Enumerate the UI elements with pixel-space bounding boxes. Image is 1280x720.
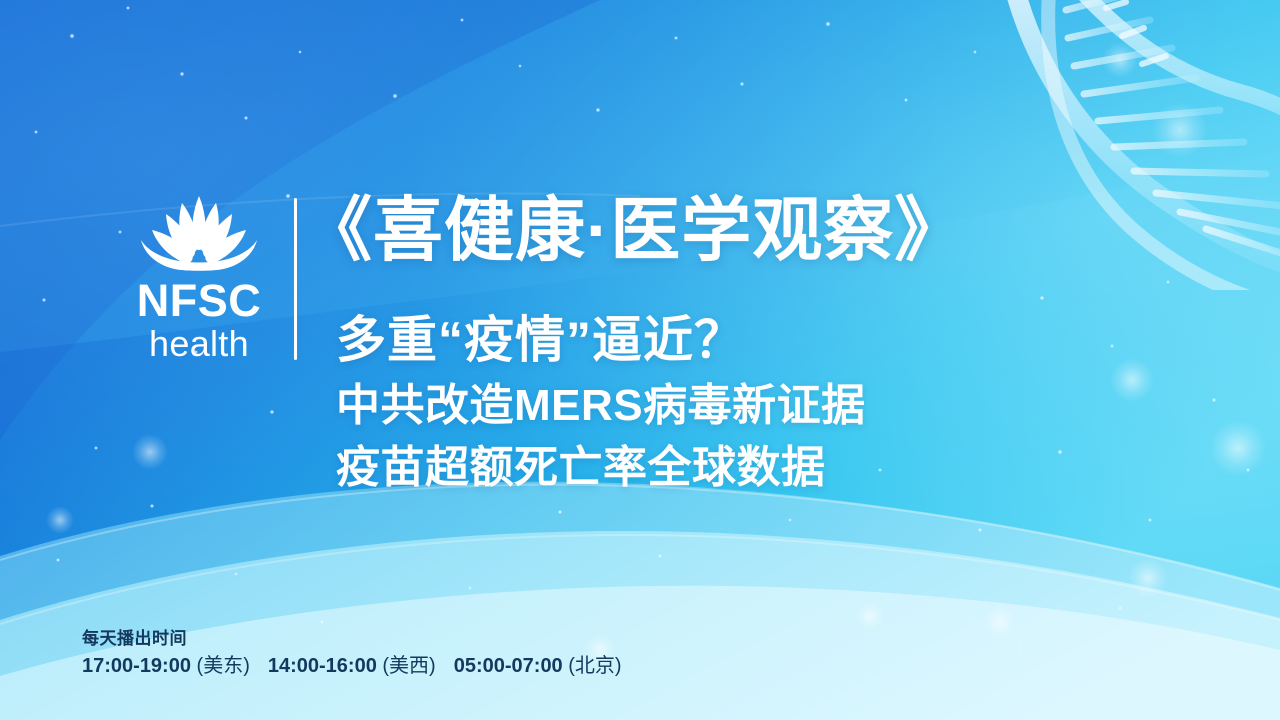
program-subline-1: 中共改造MERS病毒新证据 [336,380,866,433]
schedule-times: 17:00-19:00 (美东)14:00-16:00 (美西)05:00-07… [82,653,622,680]
schedule-slot-zone: (北京) [568,655,621,677]
broadcast-title-card: NFSC health 《喜健康·医学观察》 多重“疫情”逼近？ 中共改造MER… [0,0,1280,720]
brand-name: NFSC [137,278,262,323]
vertical-divider [294,198,297,360]
schedule-slot-zone: (美东) [197,655,250,677]
broadcast-schedule: 每天播出时间 17:00-19:00 (美东)14:00-16:00 (美西)0… [82,628,622,680]
schedule-slot-time: 17:00-19:00 [82,655,191,677]
program-subline-2: 疫苗超额死亡率全球数据 [336,442,826,495]
program-headline: 多重“疫情”逼近？ [336,310,745,370]
schedule-label: 每天播出时间 [82,628,622,651]
lotus-icon [135,192,263,272]
schedule-slot-time: 14:00-16:00 [268,655,377,677]
brand-sub: health [149,325,249,363]
program-title: 《喜健康·医学观察》 [302,192,965,269]
schedule-slot-zone: (美西) [382,655,435,677]
brand-logo: NFSC health [108,192,290,364]
schedule-slot-time: 05:00-07:00 [454,655,563,677]
